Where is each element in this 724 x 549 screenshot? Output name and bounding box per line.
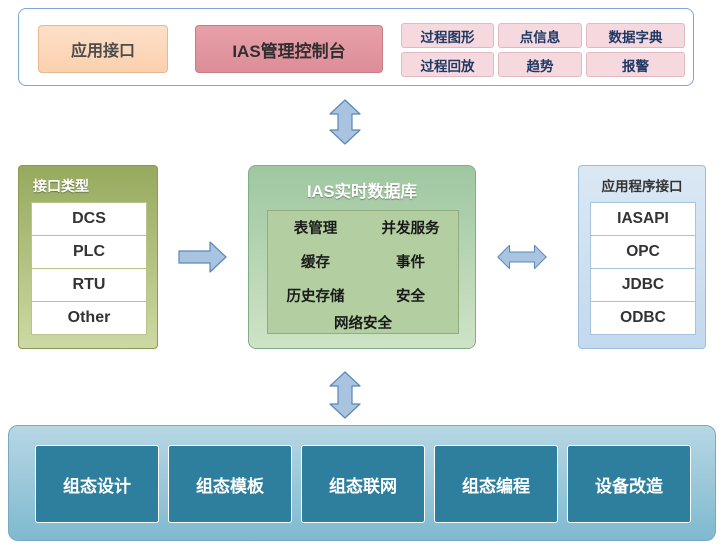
- function-label: 报警: [622, 55, 649, 75]
- ias-realtime-database-title: IAS实时数据库: [249, 178, 475, 202]
- bottom-item-config-design[interactable]: 组态设计: [35, 445, 159, 523]
- database-modules-grid: 表管理 并发服务 缓存 事件 历史存储 安全 网络安全: [267, 210, 459, 334]
- app-interface-box[interactable]: 应用接口: [38, 25, 168, 73]
- interface-type-title: 接口类型: [33, 176, 89, 196]
- arrow-bottom-vertical: [327, 371, 363, 419]
- list-item-label: JDBC: [622, 276, 664, 294]
- interface-type-box: 接口类型 DCS PLC RTU Other: [18, 165, 158, 349]
- top-panel: 应用接口 IAS管理控制台 过程图形 点信息 数据字典 过程回放 趋势 报警: [18, 8, 694, 86]
- module-network-security: 网络安全: [334, 312, 392, 333]
- list-item-label: PLC: [73, 243, 105, 261]
- module-history-storage: 历史存储: [287, 285, 345, 306]
- arrow-top-vertical: [327, 99, 363, 145]
- function-cell-point-info[interactable]: 点信息: [498, 23, 582, 48]
- function-label: 趋势: [527, 55, 554, 75]
- function-grid: 过程图形 点信息 数据字典 过程回放 趋势 报警: [401, 23, 677, 77]
- list-item-label: DCS: [72, 210, 106, 228]
- function-cell-data-dictionary[interactable]: 数据字典: [586, 23, 685, 48]
- module-concurrent-service: 并发服务: [382, 217, 440, 238]
- function-cell-process-graphics[interactable]: 过程图形: [401, 23, 494, 48]
- list-item-odbc[interactable]: ODBC: [590, 301, 696, 335]
- list-item-plc[interactable]: PLC: [31, 235, 147, 269]
- arrow-left-to-center: [178, 240, 228, 274]
- list-item-rtu[interactable]: RTU: [31, 268, 147, 302]
- ias-console-box[interactable]: IAS管理控制台: [195, 25, 383, 73]
- function-cell-trend[interactable]: 趋势: [498, 52, 582, 77]
- list-item-iasapi[interactable]: IASAPI: [590, 202, 696, 236]
- api-title: 应用程序接口: [579, 175, 705, 195]
- bottom-item-config-template[interactable]: 组态模板: [168, 445, 292, 523]
- ias-console-label: IAS管理控制台: [232, 37, 345, 62]
- function-cell-alarm[interactable]: 报警: [586, 52, 685, 77]
- arrow-center-to-right: [497, 240, 547, 274]
- module-table-management: 表管理: [294, 217, 338, 238]
- module-event: 事件: [396, 251, 425, 272]
- bottom-item-equipment-retrofit[interactable]: 设备改造: [567, 445, 691, 523]
- module-security: 安全: [396, 285, 425, 306]
- list-item-jdbc[interactable]: JDBC: [590, 268, 696, 302]
- interface-type-list: DCS PLC RTU Other: [31, 202, 147, 334]
- list-item-label: OPC: [626, 243, 660, 261]
- bottom-item-label: 组态联网: [329, 472, 397, 497]
- diagram-canvas: 应用接口 IAS管理控制台 过程图形 点信息 数据字典 过程回放 趋势 报警: [0, 0, 724, 549]
- function-cell-process-replay[interactable]: 过程回放: [401, 52, 494, 77]
- bottom-item-label: 组态模板: [196, 472, 264, 497]
- list-item-label: Other: [68, 309, 111, 327]
- module-cache: 缓存: [301, 251, 330, 272]
- bottom-item-label: 设备改造: [595, 472, 663, 497]
- list-item-opc[interactable]: OPC: [590, 235, 696, 269]
- list-item-label: ODBC: [620, 309, 666, 327]
- list-item-other[interactable]: Other: [31, 301, 147, 335]
- ias-realtime-database-box: IAS实时数据库 表管理 并发服务 缓存 事件 历史存储 安全 网络安全: [248, 165, 476, 349]
- bottom-item-label: 组态设计: [63, 472, 131, 497]
- api-list: IASAPI OPC JDBC ODBC: [590, 202, 696, 334]
- bottom-item-label: 组态编程: [462, 472, 530, 497]
- function-label: 点信息: [520, 26, 561, 46]
- function-label: 过程回放: [421, 55, 475, 75]
- list-item-label: RTU: [73, 276, 106, 294]
- bottom-panel: 组态设计 组态模板 组态联网 组态编程 设备改造: [8, 425, 716, 541]
- app-interface-label: 应用接口: [71, 37, 135, 61]
- list-item-dcs[interactable]: DCS: [31, 202, 147, 236]
- function-label: 数据字典: [609, 26, 663, 46]
- bottom-items-row: 组态设计 组态模板 组态联网 组态编程 设备改造: [35, 445, 691, 523]
- api-box: 应用程序接口 IASAPI OPC JDBC ODBC: [578, 165, 706, 349]
- list-item-label: IASAPI: [617, 210, 669, 228]
- bottom-item-config-programming[interactable]: 组态编程: [434, 445, 558, 523]
- function-label: 过程图形: [421, 26, 475, 46]
- bottom-item-config-networking[interactable]: 组态联网: [301, 445, 425, 523]
